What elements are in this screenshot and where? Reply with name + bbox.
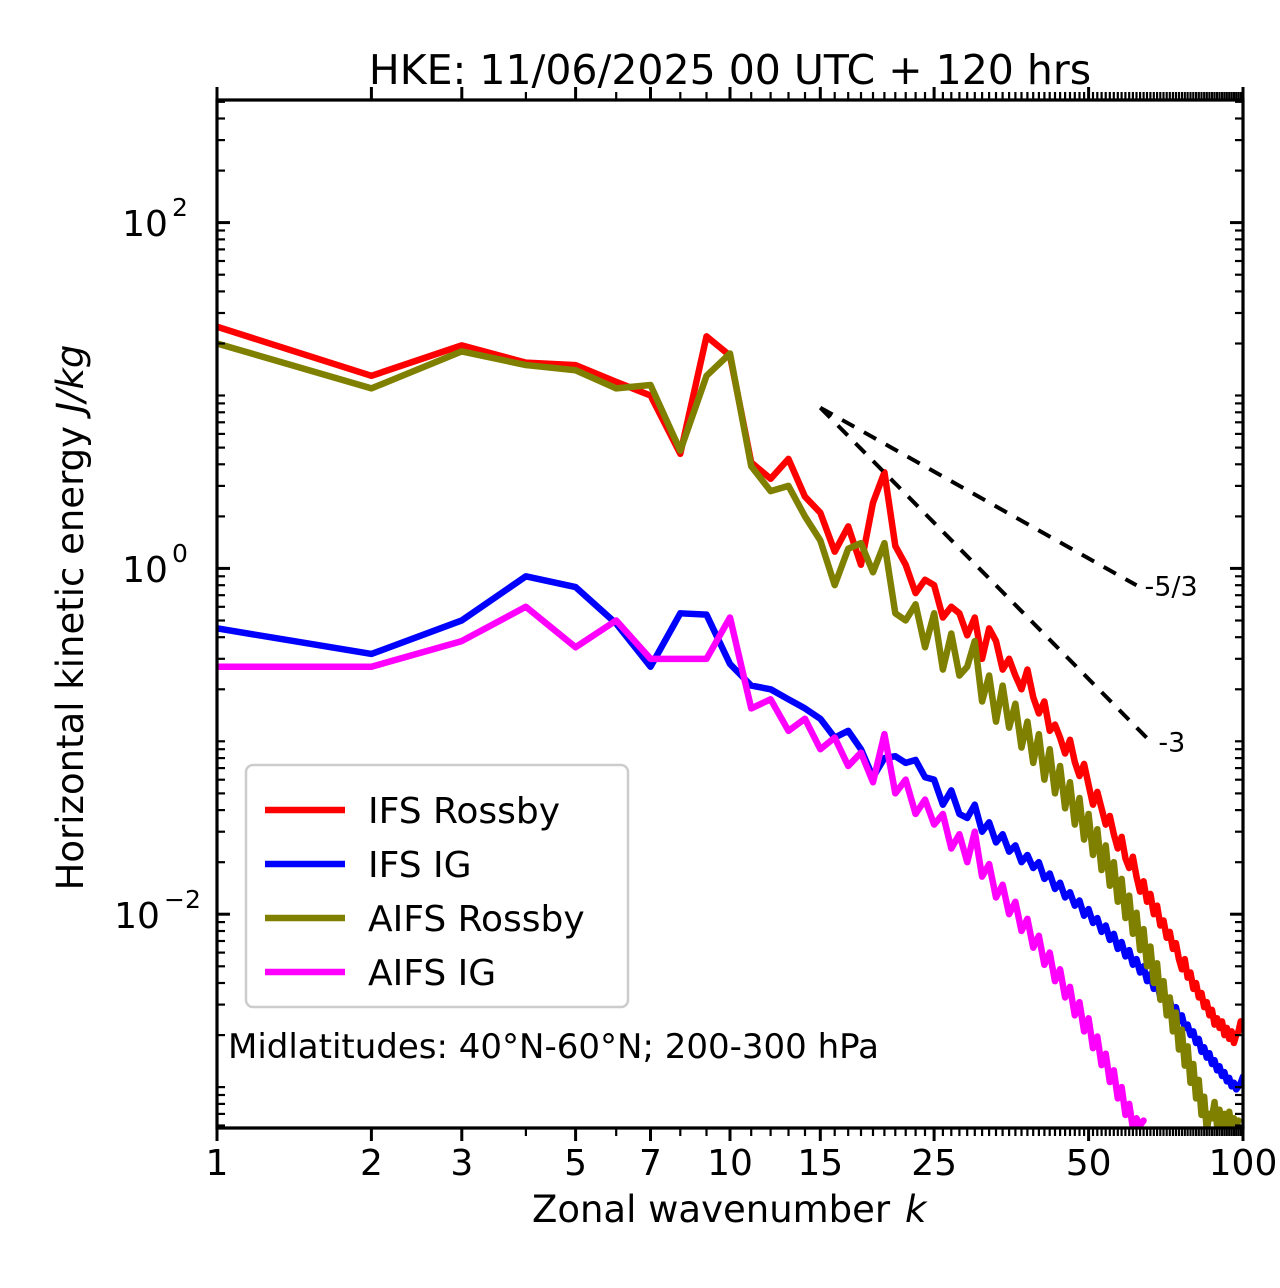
y-tick-exp-0: 2 [172,193,188,222]
legend-label-aifs-rossby: AIFS Rossby [368,899,585,940]
x-axis-tick-labels: 1235710152550100 [206,1143,1278,1184]
x-tick-label: 50 [1066,1143,1112,1184]
spectral-energy-chart: HKE: 11/06/2025 00 UTC + 120 hrs -5/3 -3… [0,0,1280,1288]
y-tick-base-0: 10 [122,204,168,245]
y-axis-label-italic: J/kg [49,345,92,420]
x-tick-label: 100 [1209,1143,1278,1184]
y-axis-tick-label-1: 10 0 [122,539,188,591]
y-tick-exp-1: 0 [172,539,188,568]
region-annotation: Midlatitudes: 40°N-60°N; 200-300 hPa [228,1027,879,1067]
y-axis-tick-label-2: 10 −2 [114,885,201,937]
x-axis-label-italic: k [905,1188,928,1231]
x-axis-label: Zonal wavenumber k [532,1188,928,1231]
y-tick-base-1: 10 [122,550,168,591]
chart-title: HKE: 11/06/2025 00 UTC + 120 hrs [369,46,1091,94]
slope-label-five-thirds: -5/3 [1145,571,1198,602]
legend-label-ifs-rossby: IFS Rossby [368,791,560,832]
y-axis-label: Horizontal kinetic energy J/kg [49,345,92,891]
x-tick-label: 5 [564,1143,587,1184]
x-tick-label: 7 [639,1143,662,1184]
legend-label-aifs-ig: AIFS IG [368,953,496,994]
chart-page: HKE: 11/06/2025 00 UTC + 120 hrs -5/3 -3… [0,0,1280,1288]
legend-label-ifs-ig: IFS IG [368,845,472,886]
x-tick-label: 10 [707,1143,753,1184]
legend[interactable]: IFS RossbyIFS IGAIFS RossbyAIFS IG [246,765,628,1007]
y-tick-base-2: 10 [114,896,160,937]
x-tick-label: 3 [450,1143,473,1184]
x-tick-label: 15 [797,1143,843,1184]
y-tick-exp-2: −2 [164,885,201,914]
x-tick-label: 2 [360,1143,383,1184]
slope-label-minus-three: -3 [1158,728,1185,759]
x-axis-label-main: Zonal wavenumber [532,1188,891,1231]
y-axis-tick-label-0: 10 2 [122,193,188,245]
y-axis-label-main: Horizontal kinetic energy [49,426,92,890]
x-tick-label: 25 [911,1143,957,1184]
x-tick-label: 1 [206,1143,229,1184]
